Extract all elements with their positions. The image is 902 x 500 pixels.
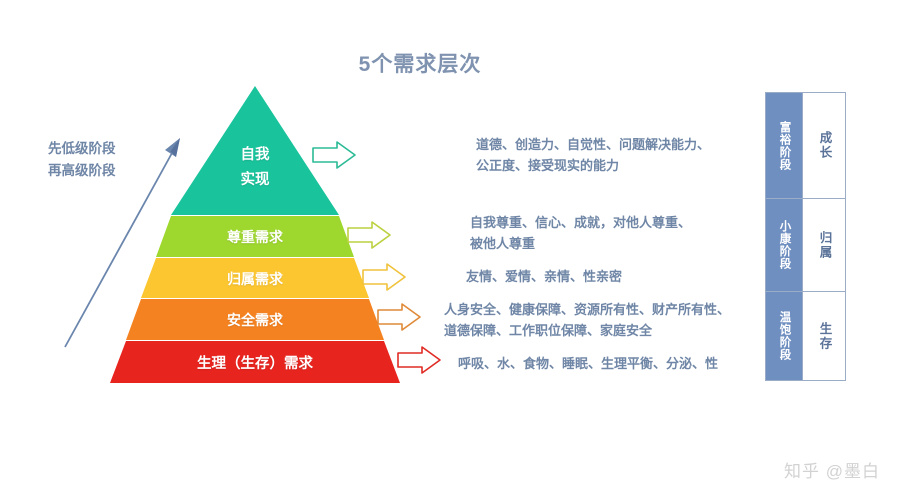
stage-table-row: 富裕阶段 成长	[766, 93, 845, 198]
watermark: 知乎 @墨白	[784, 457, 880, 482]
description-physiological: 呼吸、水、食物、睡眠、生理平衡、分泌、性	[458, 353, 718, 374]
category-cell-survival: 生存	[802, 292, 845, 380]
description-self-actualization-line2: 公正度、接受现实的能力	[476, 155, 710, 176]
stage-cell-affluent: 富裕阶段	[766, 93, 802, 198]
level-arrow-physiological	[398, 347, 440, 373]
stage-table-row: 温饱阶段 生存	[766, 292, 845, 380]
description-self-actualization: 道德、创造力、自觉性、问题解决能力、 公正度、接受现实的能力	[476, 134, 710, 176]
description-self-actualization-line1: 道德、创造力、自觉性、问题解决能力、	[476, 134, 710, 155]
stage-cell-moderately-prosperous: 小康阶段	[766, 199, 802, 291]
stage-table-row: 小康阶段 归属	[766, 198, 845, 292]
band-label-self-actualization-line2: 实现	[205, 168, 305, 193]
description-safety-line1: 人身安全、健康保障、资源所有性、财产所有性、	[444, 299, 730, 320]
stage-cell-subsistence: 温饱阶段	[766, 292, 802, 380]
description-esteem-line1: 自我尊重、信心、成就，对他人尊重、	[470, 212, 691, 233]
band-label-esteem: 尊重需求	[185, 227, 325, 247]
level-arrow-self-actualization	[313, 142, 355, 168]
description-safety-line2: 道德保障、工作职位保障、家庭安全	[444, 320, 730, 341]
band-label-belonging: 归属需求	[185, 269, 325, 289]
category-cell-belonging: 归属	[802, 199, 845, 291]
stage-table: 富裕阶段 成长 小康阶段 归属 温饱阶段 生存	[765, 92, 846, 381]
band-label-safety: 安全需求	[185, 310, 325, 330]
description-safety: 人身安全、健康保障、资源所有性、财产所有性、 道德保障、工作职位保障、家庭安全	[444, 299, 730, 341]
band-label-self-actualization: 自我 实现	[205, 143, 305, 193]
diagram-canvas: 5个需求层次 先低级阶段 再高级阶段	[0, 0, 902, 500]
band-label-physiological: 生理（生存）需求	[155, 352, 355, 373]
level-arrow-esteem	[348, 222, 390, 248]
band-label-self-actualization-line1: 自我	[205, 143, 305, 168]
description-esteem-line2: 被他人尊重	[470, 233, 691, 254]
description-esteem: 自我尊重、信心、成就，对他人尊重、 被他人尊重	[470, 212, 691, 254]
description-belonging: 友情、爱情、亲情、性亲密	[466, 266, 622, 287]
category-cell-growth: 成长	[802, 93, 845, 198]
level-arrow-safety	[378, 304, 420, 330]
level-arrow-belonging	[363, 264, 405, 290]
